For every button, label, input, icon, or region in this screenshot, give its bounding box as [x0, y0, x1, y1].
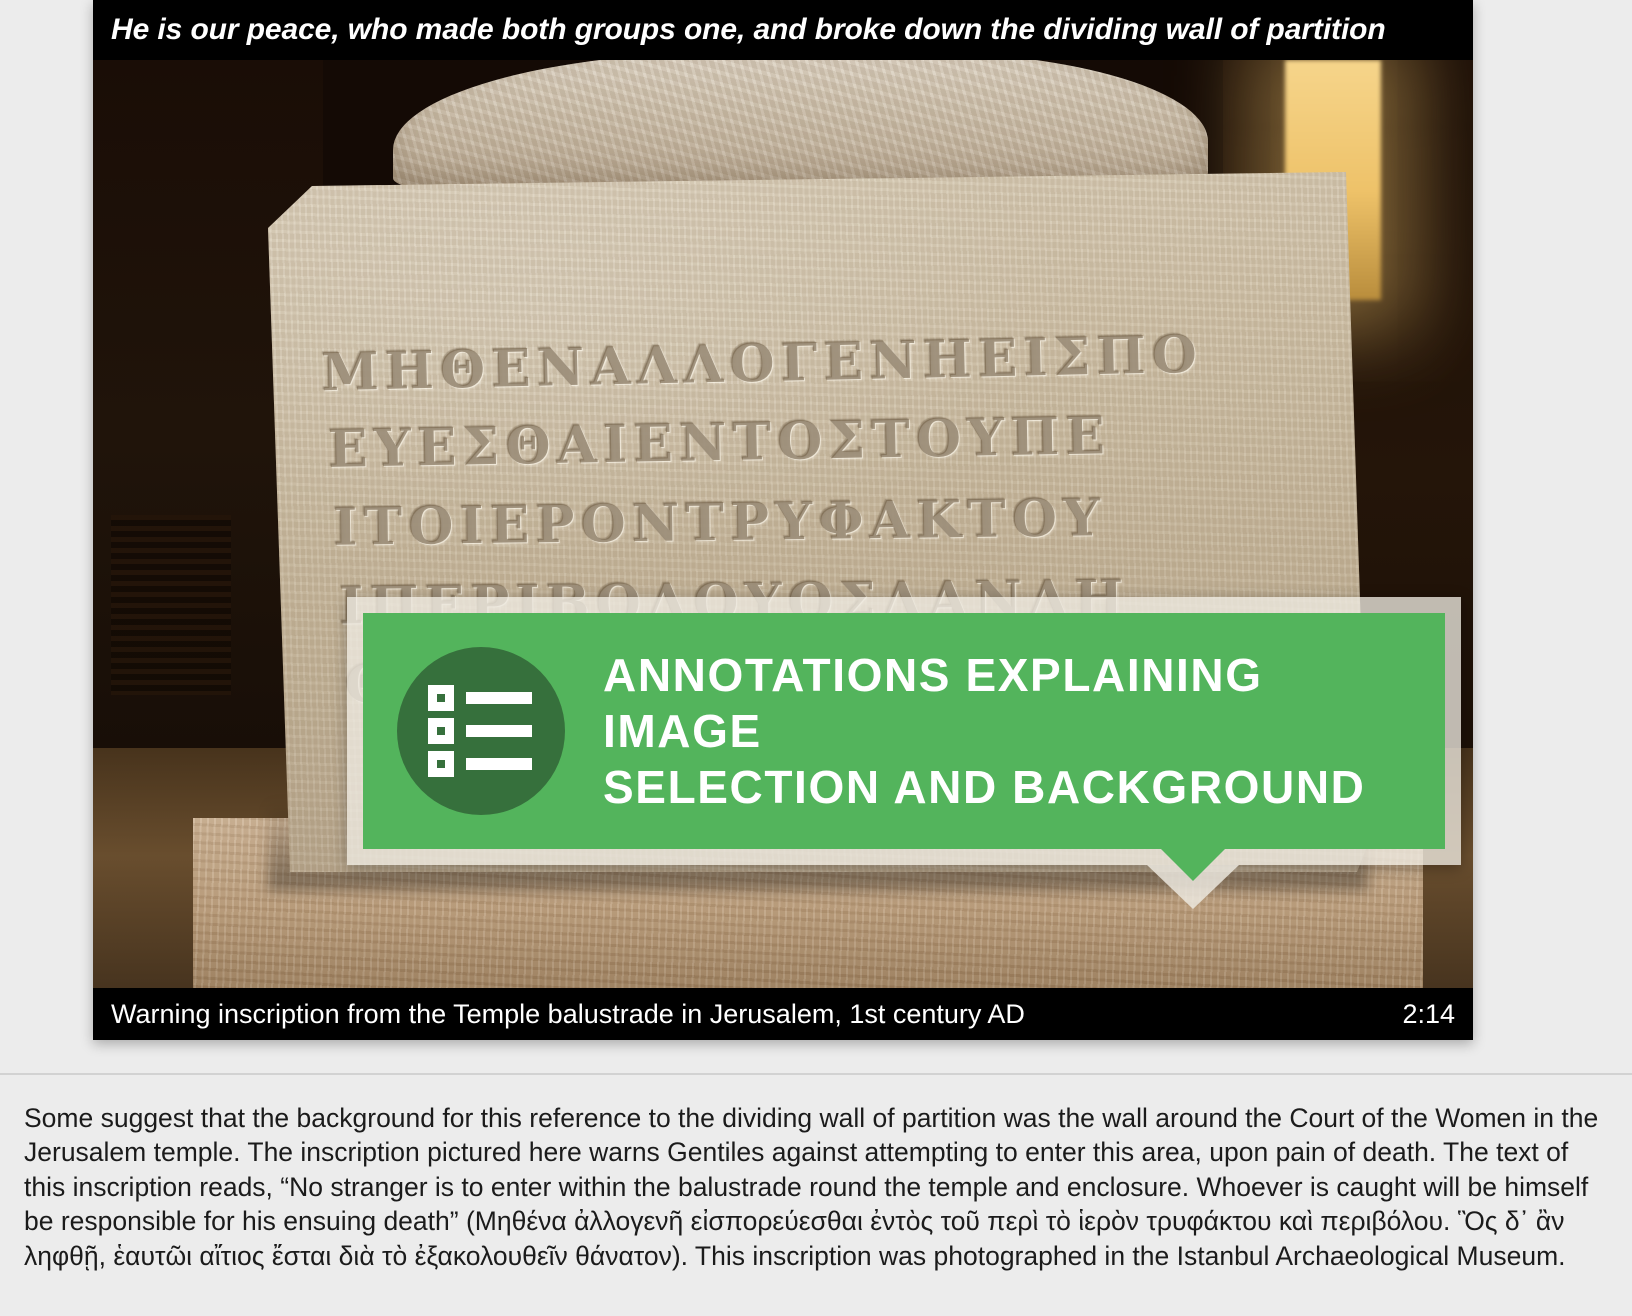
callout-heading-line1: ANNOTATIONS EXPLAINING IMAGE: [603, 649, 1263, 757]
description-pane: Some suggest that the background for thi…: [0, 1077, 1632, 1316]
slide-title: He is our peace, who made both groups on…: [93, 13, 1386, 47]
description-text: Some suggest that the background for thi…: [24, 1101, 1606, 1273]
gallery-vent: [111, 515, 231, 695]
callout-heading-line2: SELECTION AND BACKGROUND: [603, 759, 1419, 815]
slide-pane: ΜΗΘΕΝΑΛΛΟΓΕΝΗΕΙΣΠΟ ΕΥΕΣΘΑΙΕΝΤΟΣΤΟΥΠΕ ΙΤΟ…: [0, 0, 1632, 1075]
callout-heading: ANNOTATIONS EXPLAINING IMAGE SELECTION A…: [603, 647, 1419, 815]
callout-frame: ANNOTATIONS EXPLAINING IMAGE SELECTION A…: [347, 597, 1461, 865]
bullet-list-icon: [397, 647, 565, 815]
annotation-callout[interactable]: ANNOTATIONS EXPLAINING IMAGE SELECTION A…: [347, 597, 1461, 909]
slide-caption-bar: Warning inscription from the Temple balu…: [93, 988, 1473, 1040]
slide-timestamp: 2:14: [1402, 999, 1455, 1030]
callout-tail-inner: [1161, 849, 1225, 881]
callout-body: ANNOTATIONS EXPLAINING IMAGE SELECTION A…: [363, 613, 1445, 849]
slide[interactable]: ΜΗΘΕΝΑΛΛΟΓΕΝΗΕΙΣΠΟ ΕΥΕΣΘΑΙΕΝΤΟΣΤΟΥΠΕ ΙΤΟ…: [93, 0, 1473, 1040]
broken-stone-block: [393, 60, 1208, 192]
slide-title-bar: He is our peace, who made both groups on…: [93, 0, 1473, 60]
slide-caption: Warning inscription from the Temple balu…: [111, 999, 1025, 1030]
callout-tail: [347, 865, 1461, 909]
